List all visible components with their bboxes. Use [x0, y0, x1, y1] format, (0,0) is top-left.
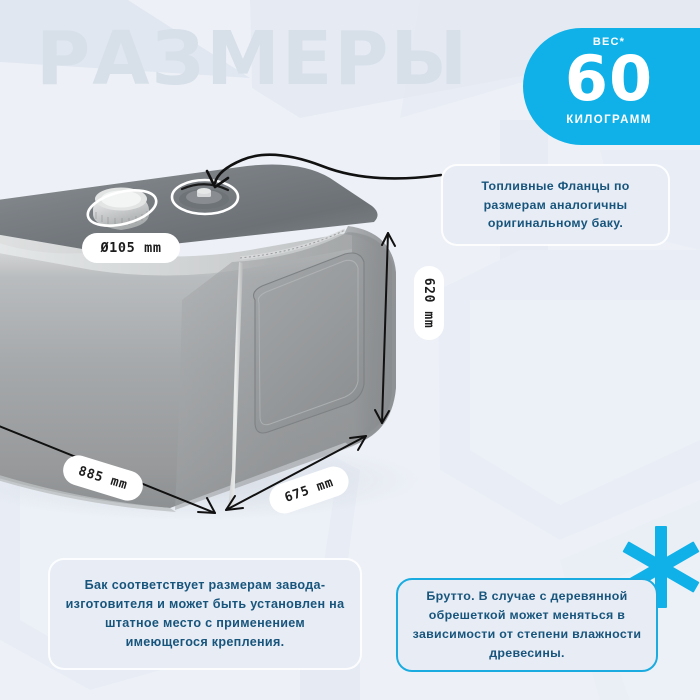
callout-flange: Топливные Фланцы по размерам аналогичны … — [443, 166, 668, 244]
weight-badge-value: 60 — [495, 50, 700, 109]
filler-cap — [93, 188, 149, 231]
dimension-label-height: 620 mm — [414, 266, 444, 340]
weight-badge: ВЕС* 60 КИЛОГРАММ — [523, 28, 700, 145]
dimension-label-diameter: Ø105 mm — [82, 233, 180, 263]
weight-badge-label-bottom: КИЛОГРАММ — [495, 114, 700, 126]
callout-note-right: Брутто. В случае с деревянной обрешеткой… — [396, 578, 658, 672]
callout-note-left-text: Бак соответствует размерам завода-изгото… — [50, 576, 360, 653]
callout-flange-text: Топливные Фланцы по размерам аналогичны … — [443, 177, 668, 234]
callout-note-right-text: Брутто. В случае с деревянной обрешеткой… — [398, 587, 656, 662]
infographic-canvas: РАЗМЕРЫ — [0, 0, 700, 700]
callout-note-left: Бак соответствует размерам завода-изгото… — [50, 560, 360, 668]
